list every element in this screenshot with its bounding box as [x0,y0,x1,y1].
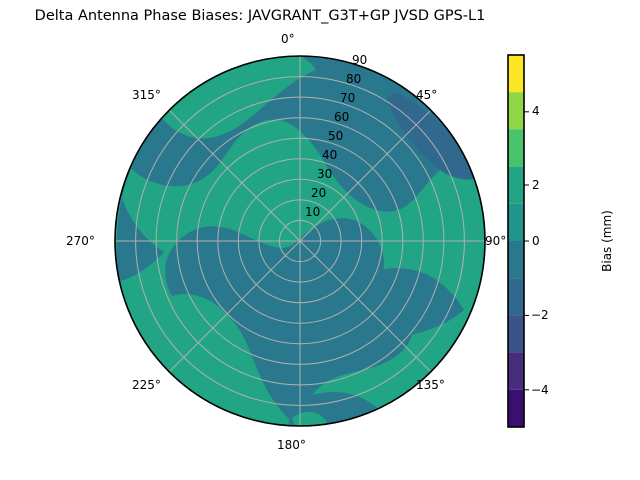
colorbar-band-4 [508,241,524,278]
angular-tick-270: 270° [66,234,95,248]
radial-tick-50: 50 [328,129,343,143]
colorbar-bands [508,55,524,427]
radial-tick-90: 90 [352,53,367,67]
angular-tick-225: 225° [132,378,161,392]
colorbar-band-9 [508,55,524,92]
colorbar-tick-0: 0 [532,234,540,248]
radial-tick-20: 20 [311,186,326,200]
colorbar-band-1 [508,353,524,390]
radial-tick-40: 40 [322,148,337,162]
colorbar-band-5 [508,204,524,241]
radial-tick-60: 60 [334,110,349,124]
colorbar-tick-minus4: −4 [531,383,549,397]
radial-tick-10: 10 [305,205,320,219]
colorbar-axis-label: Bias (mm) [600,196,614,286]
angular-tick-315: 315° [132,88,161,102]
colorbar-tick-minus2: −2 [531,308,549,322]
colorbar-tick-4: 4 [532,104,540,118]
angular-tick-135: 135° [416,378,445,392]
angular-tick-180: 180° [277,438,306,452]
angular-tick-0: 0° [281,32,295,46]
radial-tick-70: 70 [340,91,355,105]
colorbar [500,40,640,480]
colorbar-band-3 [508,278,524,315]
colorbar-band-2 [508,315,524,352]
radial-tick-30: 30 [317,167,332,181]
colorbar-tick-2: 2 [532,178,540,192]
colorbar-band-8 [508,92,524,129]
angular-gridlines [115,56,485,426]
colorbar-band-6 [508,167,524,204]
colorbar-band-0 [508,390,524,427]
figure-canvas: Delta Antenna Phase Biases: JAVGRANT_G3T… [0,0,640,480]
angular-tick-45: 45° [416,88,437,102]
radial-tick-80: 80 [346,72,361,86]
colorbar-band-7 [508,129,524,166]
